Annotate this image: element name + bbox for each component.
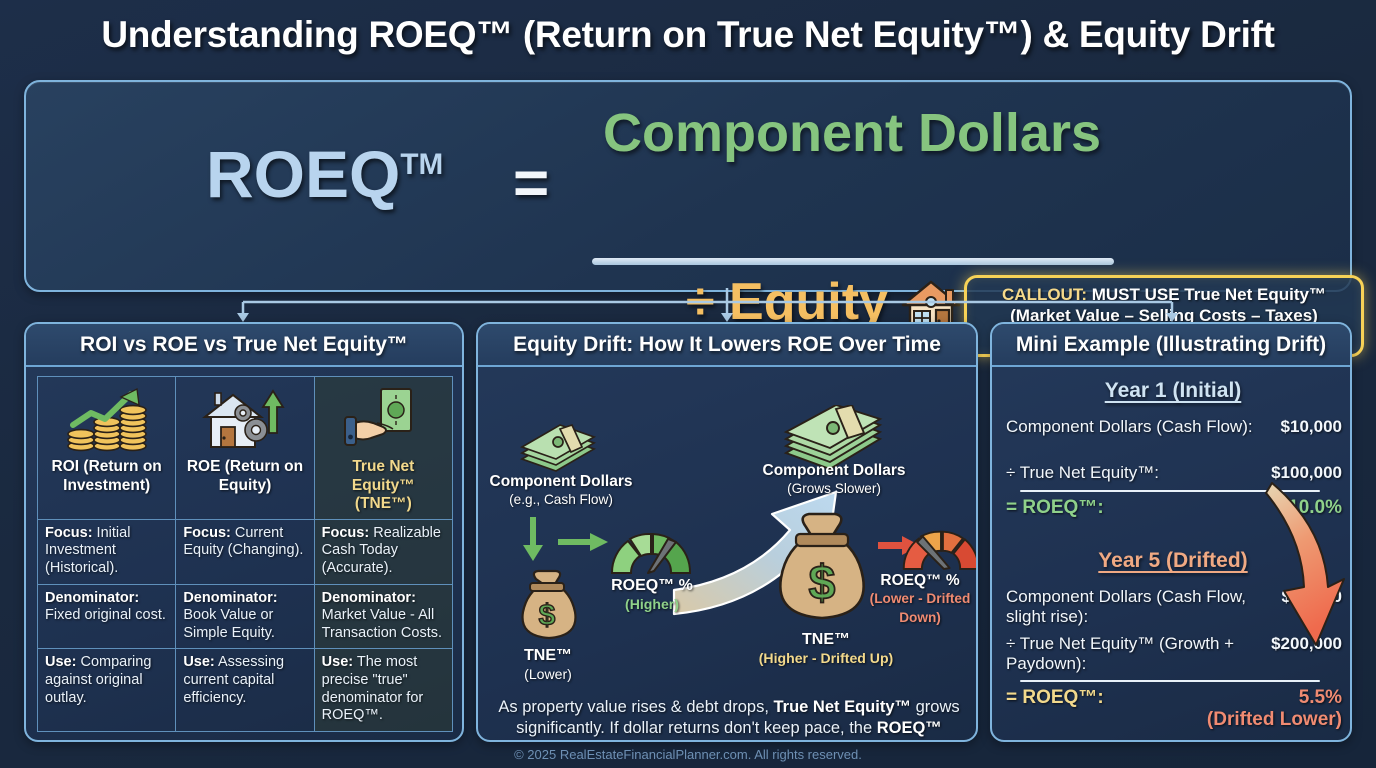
- table-cell-roi-header: ROI (Return on Investment): [38, 377, 176, 520]
- use-key-roi: Use:: [45, 654, 76, 670]
- formula-panel: ROEQTM = Component Dollars ÷ Equity CALL…: [24, 80, 1352, 292]
- gauge-high-icon: [606, 523, 696, 577]
- table-row-headers: ROI (Return on Investment): [38, 377, 453, 520]
- year5-divider: [1020, 680, 1320, 682]
- year1-row-component-dollars: Component Dollars (Cash Flow): $10,000: [1006, 417, 1342, 437]
- year5-result-row: = ROEQ™: 5.5% (Drifted Lower): [1006, 687, 1342, 731]
- hand-cash-icon: [322, 382, 445, 458]
- left-component-dollars-title: Component Dollars: [490, 473, 633, 490]
- table-cell-denominator-tne: Denominator: Market Value - All Transact…: [314, 584, 452, 649]
- right-tne-title: TNE™: [802, 631, 850, 648]
- table-cell-tne-header: True Net Equity™ (TNE™): [314, 377, 452, 520]
- growth-chart-coins-icon: [45, 382, 168, 458]
- left-tne-sub: (Lower): [524, 666, 572, 682]
- table-cell-focus-roi: Focus: Initial Investment (Historical).: [38, 519, 176, 584]
- table-cell-focus-roe: Focus: Current Equity (Changing).: [176, 519, 314, 584]
- right-gauge-label: ROEQ™ % (Lower - Drifted Down): [860, 572, 978, 627]
- caption-part-b: True Net Equity™: [774, 698, 912, 716]
- focus-key-tne: Focus:: [322, 525, 370, 541]
- right-tne-sub: (Higher - Drifted Up): [759, 650, 894, 666]
- footer-copyright: © 2025 RealEstateFinancialPlanner.com. A…: [0, 747, 1376, 762]
- use-key-tne: Use:: [322, 654, 353, 670]
- table-cell-focus-tne: Focus: Realizable Cash Today (Accurate).: [314, 519, 452, 584]
- right-component-dollars-sub: (Grows Slower): [787, 481, 881, 496]
- left-tne-label: TNE™ (Lower): [486, 647, 610, 685]
- year5-result-label: = ROEQ™:: [1006, 687, 1299, 709]
- equity-drift-panel-title: Equity Drift: How It Lowers ROE Over Tim…: [513, 333, 941, 357]
- right-tne-label: TNE™ (Higher - Drifted Up): [728, 631, 924, 669]
- table-row-focus: Focus: Initial Investment (Historical). …: [38, 519, 453, 584]
- left-gauge-title: ROEQ™ %: [611, 577, 693, 594]
- denom-val-roe: Book Value or Simple Equity.: [183, 607, 275, 641]
- table-header-label-tne: True Net Equity™ (TNE™): [322, 458, 445, 514]
- caption-part-f: "drifts" downward: [732, 740, 875, 742]
- comparison-panel: ROI vs ROE vs True Net Equity™: [24, 322, 464, 742]
- page-title-text: Understanding ROEQ™ (Return on True Net …: [101, 14, 1274, 55]
- left-gauge-sub: (Higher): [625, 596, 679, 612]
- denom-key-roi: Denominator:: [45, 590, 139, 606]
- table-header-label-roe: ROE (Return on Equity): [183, 458, 306, 495]
- table-cell-use-tne: Use: The most precise "true" denominator…: [314, 649, 452, 732]
- equals-sign: =: [513, 148, 549, 219]
- table-cell-use-roe: Use: Assessing current capital efficienc…: [176, 649, 314, 732]
- denom-val-tne: Market Value - All Transaction Costs.: [322, 607, 442, 641]
- formula-left-term: ROEQTM: [206, 136, 443, 212]
- comparison-panel-header: ROI vs ROE vs True Net Equity™: [26, 324, 462, 367]
- money-bag-small-icon: $: [510, 569, 584, 645]
- year5-result-value: 5.5%: [1299, 687, 1342, 709]
- comparison-table: ROI (Return on Investment): [37, 376, 453, 732]
- page-title: Understanding ROEQ™ (Return on True Net …: [0, 14, 1376, 56]
- right-gauge-title: ROEQ™ %: [880, 572, 959, 589]
- table-cell-denominator-roi: Denominator: Fixed original cost.: [38, 584, 176, 649]
- table-row-denominator: Denominator: Fixed original cost. Denomi…: [38, 584, 453, 649]
- equity-drift-panel: Equity Drift: How It Lowers ROE Over Tim…: [476, 322, 978, 742]
- caption-part-e: percentage naturally: [578, 740, 732, 742]
- year1-component-dollars-label: Component Dollars (Cash Flow):: [1006, 417, 1281, 437]
- year5-tne-label: ÷ True Net Equity™ (Growth + Paydown):: [1006, 634, 1271, 674]
- drift-down-arrow: [1264, 479, 1352, 659]
- mini-example-panel: Mini Example (Illustrating Drift) Year 1…: [990, 322, 1352, 742]
- mini-example-panel-title: Mini Example (Illustrating Drift): [1016, 333, 1326, 357]
- left-gauge-label: ROEQ™ % (Higher): [596, 577, 708, 615]
- left-component-dollars-label: Component Dollars (e.g., Cash Flow): [478, 473, 644, 510]
- svg-text:$: $: [809, 557, 836, 610]
- denom-key-tne: Denominator:: [322, 590, 416, 606]
- right-component-dollars-title: Component Dollars: [763, 462, 906, 479]
- right-gauge-sub: (Lower - Drifted Down): [870, 591, 971, 624]
- table-cell-roe-header: ROE (Return on Equity): [176, 377, 314, 520]
- year1-title: Year 1 (Initial): [992, 379, 1352, 403]
- left-tne-title: TNE™: [524, 647, 572, 664]
- mini-example-panel-header: Mini Example (Illustrating Drift): [992, 324, 1350, 367]
- mini-example-body: Year 1 (Initial) Component Dollars (Cash…: [992, 369, 1352, 742]
- denom-val-roi: Fixed original cost.: [45, 607, 166, 623]
- caption-part-g: .: [875, 740, 880, 742]
- denom-key-roe: Denominator:: [183, 590, 277, 606]
- left-component-dollars-sub: (e.g., Cash Flow): [509, 492, 613, 507]
- infographic-canvas: Understanding ROEQ™ (Return on True Net …: [0, 0, 1376, 768]
- formula-left-term-text: ROEQ: [206, 137, 400, 211]
- equity-drift-panel-header: Equity Drift: How It Lowers ROE Over Tim…: [478, 324, 976, 367]
- year1-component-dollars-value: $10,000: [1281, 417, 1342, 437]
- caption-part-d: ROEQ™: [877, 719, 942, 737]
- table-cell-use-roi: Use: Comparing against original outlay.: [38, 649, 176, 732]
- caption-part-a: As property value rises & debt drops,: [498, 698, 773, 716]
- table-row-use: Use: Comparing against original outlay. …: [38, 649, 453, 732]
- year5-component-dollars-label: Component Dollars (Cash Flow, slight ris…: [1006, 587, 1281, 627]
- right-component-dollars-label: Component Dollars (Grows Slower): [746, 462, 922, 499]
- fraction-bar: [592, 258, 1114, 265]
- trademark-symbol: TM: [400, 148, 443, 181]
- formula-numerator: Component Dollars: [592, 102, 1112, 164]
- svg-text:$: $: [539, 599, 556, 632]
- comparison-panel-title: ROI vs ROE vs True Net Equity™: [80, 333, 408, 357]
- table-cell-denominator-roe: Denominator: Book Value or Simple Equity…: [176, 584, 314, 649]
- gauge-low-icon: [898, 521, 978, 573]
- house-gears-arrow-icon: [183, 382, 306, 458]
- table-header-label-roi: ROI (Return on Investment): [45, 458, 168, 495]
- year1-result-label: = ROEQ™:: [1006, 497, 1288, 519]
- equity-drift-caption: As property value rises & debt drops, Tr…: [496, 697, 962, 742]
- year1-tne-label: ÷ True Net Equity™:: [1006, 463, 1271, 483]
- connector-arrows: [0, 288, 1376, 324]
- equity-drift-diagram: Component Dollars (e.g., Cash Flow) ROEQ…: [478, 369, 978, 742]
- year5-result-note: (Drifted Lower): [1006, 709, 1342, 731]
- use-key-roe: Use:: [183, 654, 214, 670]
- focus-key-roi: Focus:: [45, 525, 93, 541]
- cash-stack-small-icon: [516, 423, 600, 473]
- focus-key-roe: Focus:: [183, 525, 231, 541]
